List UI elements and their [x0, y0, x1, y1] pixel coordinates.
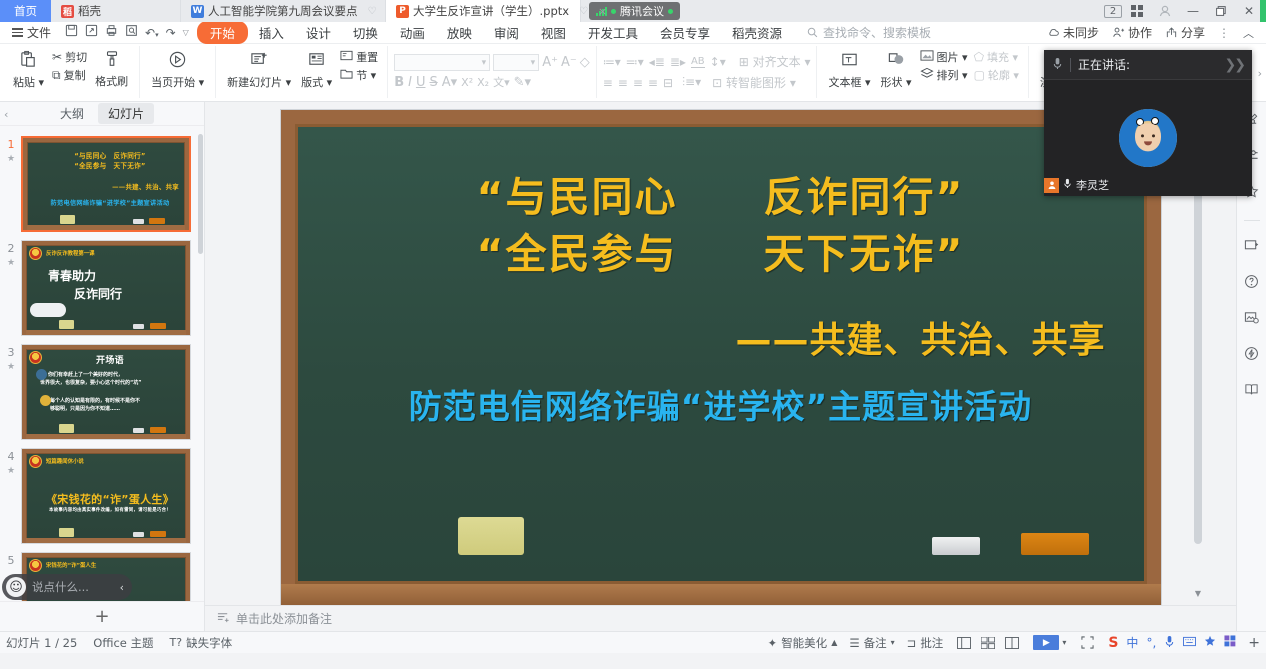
pin-icon[interactable]: ♡ — [579, 6, 588, 17]
search-placeholder: 查找命令、搜索模板 — [823, 24, 931, 41]
ribbon-tab-member-label: 会员专享 — [660, 26, 710, 41]
avatar-eye-right — [1152, 134, 1156, 138]
picture-button[interactable]: 图片 ▾ — [920, 49, 968, 65]
save-icon[interactable] — [65, 24, 78, 41]
picture-icon — [920, 49, 934, 65]
thumbnail-number-2: 2★ — [4, 240, 18, 270]
keyboard-icon[interactable] — [1183, 636, 1196, 650]
video-panel-header: 正在讲话: ❯❯ — [1044, 50, 1252, 80]
tab-writer-doc-label: 人工智能学院第九周会议要点 — [208, 3, 358, 19]
ribbon-group-paragraph: ≔▾ ≕▾ ◂≣ ≣▸ AB ↕▾ ⊞ 对齐文本 ▾ ≡ ≡ ≡ ≡ ⊟ ⫶≡▾… — [597, 46, 818, 98]
fill-button[interactable]: ⬠ 填充 ▾ — [974, 49, 1019, 65]
chevron-up-icon: ▲ — [831, 638, 837, 647]
beautify-icon: ✦ — [768, 636, 778, 650]
reset-icon — [340, 49, 353, 65]
thumb1-line3: ——共建、共治、共享 — [27, 182, 191, 191]
cut-button[interactable]: ✂ 剪切 — [52, 49, 87, 65]
fill-label: 填充 ▾ — [987, 49, 1018, 65]
animation-star-icon: ★ — [4, 360, 18, 374]
tab-writer-doc[interactable]: W 人工智能学院第九周会议要点 ♡ × — [181, 0, 386, 22]
ribbon-tab-design-label: 设计 — [306, 26, 331, 41]
subscript-button[interactable]: X₂ — [477, 76, 489, 89]
align-left-button[interactable]: ≡ — [603, 76, 613, 90]
fill-icon: ⬠ — [974, 50, 984, 64]
docer-icon: 稻 — [61, 5, 74, 18]
ribbon-group-clipboard: 粘贴 ▾ ✂ 剪切 ⧉ 复制 格式刷 — [2, 46, 140, 98]
participant-name-bar: 李灵芝 — [1044, 174, 1115, 196]
underline-button[interactable]: U — [416, 75, 426, 90]
format-painter-icon — [103, 50, 121, 72]
collaborate-icon — [1112, 26, 1125, 39]
collapse-panel-button[interactable]: ‹ — [4, 108, 8, 121]
ribbon-group-startshow: 当页开始 ▾ — [140, 46, 216, 98]
search-icon — [807, 27, 818, 38]
tencent-meeting-label: 腾讯会议 — [620, 3, 664, 19]
close-icon[interactable]: × — [598, 5, 607, 18]
thumb5-header: 宋钱花的“诈”蛋人生 — [46, 561, 96, 569]
input-method-indicator: S 中 °, — [1108, 634, 1236, 651]
font-family-select[interactable]: ▾ — [394, 54, 490, 71]
library-icon[interactable] — [1244, 382, 1259, 401]
scissors-icon: ✂ — [52, 50, 62, 64]
textbox-button[interactable]: 文本框 ▾ — [823, 48, 875, 92]
slide-count-indicator[interactable]: 幻灯片 1 / 25 — [6, 635, 77, 651]
distribute-button[interactable]: ⊟ — [663, 76, 673, 90]
reading-view-icon[interactable] — [1003, 635, 1021, 651]
status-dot-icon — [611, 9, 616, 14]
highlight-button[interactable]: ✎▾ — [514, 75, 531, 90]
theme-label: Office 主题 — [93, 635, 153, 651]
thumb1-line1: “与民同心 反诈同行” — [27, 150, 191, 160]
thumbnail-item-3[interactable]: 3★ 开场语 你们有幸赶上了一个美好的时代， 世界很大，也很复杂，要小心这个时代… — [0, 340, 204, 444]
ribbon-tab-view[interactable]: 视图 — [530, 21, 577, 44]
tab-outline[interactable]: 大纲 — [50, 103, 94, 124]
animation-star-icon: ★ — [4, 152, 18, 166]
ime-mode-label[interactable]: 中 — [1126, 634, 1138, 651]
increase-indent-button[interactable]: ≣▸ — [670, 55, 686, 69]
menu-bar-right: 未同步 协作 分享 ⋮ ︿ — [1047, 24, 1260, 41]
ribbon-tab-animation-label: 动画 — [400, 26, 425, 41]
reset-label: 重置 — [356, 49, 378, 65]
slide-title-line-2: “全民参与 天下无诈” — [298, 226, 1144, 283]
format-painter-label: 格式刷 — [95, 73, 128, 89]
ribbon-group-font: ▾ ▾ A⁺ A⁻ ◇ B I U S A▾ X² X₂ 文▾ ✎▾ — [388, 46, 597, 98]
close-button[interactable]: ✕ — [1236, 0, 1262, 22]
divider — [1070, 58, 1071, 72]
sogou-ime-icon[interactable]: S — [1108, 635, 1118, 651]
speaking-label: 正在讲话: — [1078, 56, 1130, 73]
shape-label: 形状 ▾ — [881, 74, 912, 90]
missing-font-icon: T? — [170, 636, 183, 649]
thumbnail-item-2[interactable]: 2★ 反诈反诈教程第一课 青春助力 反诈同行 — [0, 236, 204, 340]
zoom-in-button[interactable]: + — [1248, 635, 1260, 651]
chalkboard-surface: “与民同心 反诈同行” “全民参与 天下无诈” ——共建、共治、共享 防范电信网… — [295, 124, 1147, 584]
share-label: 分享 — [1181, 24, 1205, 41]
animation-star-icon: ★ — [4, 256, 18, 270]
tab-home[interactable]: 首页 — [0, 0, 51, 22]
pin-icon[interactable]: ♡ — [368, 6, 377, 17]
paste-icon — [19, 50, 38, 73]
sync-status-button[interactable]: 未同步 — [1047, 24, 1099, 41]
skin-icon[interactable] — [1224, 635, 1236, 650]
numbering-button[interactable]: ≕▾ — [626, 55, 644, 69]
add-slide-button[interactable]: + — [0, 601, 204, 631]
copy-button[interactable]: ⧉ 复制 — [52, 67, 87, 83]
fit-slide-icon[interactable] — [1078, 635, 1096, 651]
meeting-video-panel[interactable]: 正在讲话: ❯❯ 李灵芝 — [1044, 50, 1252, 196]
thumbnail-preview-1[interactable]: “与民同心 反诈同行” “全民参与 天下无诈” ——共建、共治、共享 防范电信网… — [21, 136, 191, 232]
tab-docer[interactable]: 稻 稻壳 — [51, 0, 181, 22]
ribbon-tab-transition[interactable]: 切换 — [342, 21, 389, 44]
thumbnail-tabs: ‹ 大纲 幻灯片 — [0, 102, 204, 126]
thumb2-line2: 反诈同行 — [74, 285, 122, 302]
cut-label: 剪切 — [65, 49, 87, 65]
section-button[interactable]: 节 ▾ — [340, 67, 378, 83]
meeting-chat-widget[interactable]: ☺ 说点什么... ‹ — [2, 574, 132, 600]
rail-divider — [1244, 220, 1260, 221]
window-controls: 2 — ✕ — [1104, 0, 1266, 22]
font-size-select[interactable]: ▾ — [493, 54, 539, 71]
avatar-face — [1135, 123, 1161, 151]
slide-count-label: 幻灯片 1 / 25 — [6, 635, 77, 651]
ribbon-tab-view-label: 视图 — [541, 26, 566, 41]
collaborate-label: 协作 — [1128, 24, 1152, 41]
columns-button[interactable]: ⫶≡▾ — [682, 75, 701, 90]
play-slideshow-group: ▶ ▾ — [1033, 635, 1066, 650]
tab-presentation-doc-label: 大学生反诈宣讲（学生）.pptx — [413, 3, 569, 19]
slide-topic-line: 防范电信网络诈骗“进学校”主题宣讲活动 — [298, 385, 1144, 429]
search-input[interactable]: 查找命令、搜索模板 — [807, 24, 931, 41]
strikethrough-button[interactable]: S — [429, 75, 437, 90]
chalk-orange — [1021, 533, 1089, 555]
chalkboard-graphic: 短篇趣闻休小说 《宋钱花的“诈”蛋人生》 本故事内容均由真实事件改编，如有雷同，… — [22, 449, 190, 543]
ribbon-tab-devtools[interactable]: 开发工具 — [577, 21, 649, 44]
avatar-mouth — [1144, 141, 1152, 145]
ribbon-tab-docer[interactable]: 稻壳资源 — [721, 21, 793, 44]
save-as-icon[interactable] — [85, 24, 98, 41]
chevron-down-icon[interactable]: ▾ — [1062, 638, 1066, 647]
chalkboard-graphic: 反诈反诈教程第一课 青春助力 反诈同行 — [22, 241, 190, 335]
ribbon-tab-animation[interactable]: 动画 — [389, 21, 436, 44]
slide-thumbnail-panel: ‹ 大纲 幻灯片 1★ “与民同心 反诈同行” “全民参与 天下无诈” — [0, 102, 205, 631]
thumb4-line1: 《宋钱花的“诈”蛋人生》 — [26, 491, 191, 507]
add-slide-label: + — [94, 606, 109, 627]
mic-icon[interactable] — [1164, 635, 1175, 651]
tab-count-badge-label: 2 — [1110, 6, 1116, 17]
tab-docer-label: 稻壳 — [78, 3, 101, 19]
police-emblem-icon — [29, 455, 42, 468]
tools-icon[interactable] — [1204, 635, 1216, 650]
hamburger-icon — [12, 26, 23, 39]
play-slideshow-button[interactable]: ▶ — [1033, 635, 1059, 650]
close-icon: ✕ — [1244, 4, 1254, 18]
ribbon-tab-transition-label: 切换 — [353, 26, 378, 41]
view-buttons — [955, 635, 1021, 651]
new-slide-label: 新建幻灯片 ▾ — [227, 74, 291, 90]
notes-toggle-button[interactable]: ☰ 备注 ▾ — [849, 635, 894, 651]
avatar — [1119, 109, 1177, 167]
bullet-icon-1 — [36, 369, 47, 380]
thumbnail-scrollbar[interactable] — [198, 134, 203, 254]
format-row: B I U S A▾ X² X₂ 文▾ ✎▾ — [394, 74, 531, 90]
align-center-button[interactable]: ≡ — [618, 76, 628, 90]
thumb3-title: 开场语 — [26, 353, 191, 366]
layout-label: 版式 ▾ — [301, 74, 332, 90]
outline-button[interactable]: ▢ 轮廓 ▾ — [974, 67, 1019, 83]
thumbnail-preview-2[interactable]: 反诈反诈教程第一课 青春助力 反诈同行 — [21, 240, 191, 336]
align-right-button[interactable]: ≡ — [633, 76, 643, 90]
smiley-icon[interactable]: ☺ — [6, 577, 26, 597]
ime-punctuation-icon[interactable]: °, — [1146, 636, 1156, 650]
layout-button[interactable]: 版式 ▾ — [296, 48, 337, 92]
thumb2-line1: 青春助力 — [48, 267, 96, 284]
superscript-button[interactable]: X² — [461, 76, 473, 89]
bold-button[interactable]: B — [394, 75, 404, 90]
font-row: ▾ ▾ A⁺ A⁻ ◇ — [394, 54, 590, 71]
share-icon — [1165, 26, 1178, 39]
start-from-current-button[interactable]: 当页开始 ▾ — [146, 48, 209, 92]
notes-pane[interactable]: 单击此处添加备注 — [205, 605, 1236, 631]
outline-label: 轮廓 ▾ — [988, 67, 1019, 83]
thumbnail-item-4[interactable]: 4★ 短篇趣闻休小说 《宋钱花的“诈”蛋人生》 本故事内容均由真实事件改编，如有… — [0, 444, 204, 548]
format-painter-button[interactable]: 格式刷 — [90, 48, 133, 91]
drawing-col-2: ⬠ 填充 ▾ ▢ 轮廓 ▾ — [971, 48, 1022, 84]
picture-label: 图片 ▾ — [937, 49, 968, 65]
status-dot-icon-2 — [668, 9, 673, 14]
person-icon — [1044, 178, 1059, 193]
paragraph-row-1: ≔▾ ≕▾ ◂≣ ≣▸ AB ↕▾ ⊞ 对齐文本 ▾ — [603, 53, 811, 70]
beautify-label: 智能美化 — [781, 635, 827, 651]
ribbon-tab-start[interactable]: 开始 — [197, 21, 248, 44]
normal-view-icon[interactable] — [955, 635, 973, 651]
notes-icon — [217, 611, 230, 627]
ribbon-tab-insert[interactable]: 插入 — [248, 21, 295, 44]
chat-placeholder: 说点什么... — [32, 580, 89, 594]
notes-toggle-label: 备注 — [864, 635, 887, 651]
start-from-current-label: 当页开始 ▾ — [151, 74, 204, 90]
sync-status-label: 未同步 — [1063, 24, 1099, 41]
ribbon-tab-start-label: 开始 — [210, 26, 235, 41]
ribbon-tab-design[interactable]: 设计 — [295, 21, 342, 44]
thumbnail-preview-4[interactable]: 短篇趣闻休小说 《宋钱花的“诈”蛋人生》 本故事内容均由真实事件改编，如有雷同，… — [21, 448, 191, 544]
thumbnail-preview-3[interactable]: 开场语 你们有幸赶上了一个美好的时代， 世界很大，也很复杂，要小心这个时代的“坑… — [21, 344, 191, 440]
print-icon[interactable] — [105, 24, 118, 41]
thumbnail-number-4: 4★ — [4, 448, 18, 478]
comment-label: 批注 — [920, 635, 943, 651]
textbox-label: 文本框 ▾ — [828, 74, 870, 90]
screen-share-indicator — [1260, 0, 1266, 22]
redo-icon[interactable]: ↷ — [166, 26, 176, 40]
ribbon-tab-insert-label: 插入 — [259, 26, 284, 41]
thumb1-line4: 防范电信网络诈骗“进学校”主题宣讲活动 — [27, 198, 191, 207]
account-icon[interactable] — [1152, 0, 1178, 22]
thumbnail-item-1[interactable]: 1★ “与民同心 反诈同行” “全民参与 天下无诈” ——共建、共治、共享 防范… — [0, 132, 204, 236]
notes-icon: ☰ — [849, 636, 859, 650]
comment-icon: ⊐ — [907, 636, 917, 650]
cloud-graphic — [30, 303, 66, 317]
thumb3-line1: 你们有幸赶上了一个美好的时代， — [48, 371, 123, 378]
tab-presentation-doc[interactable]: P 大学生反诈宣讲（学生）.pptx ♡ × — [386, 0, 581, 22]
thumbnail-list[interactable]: 1★ “与民同心 反诈同行” “全民参与 天下无诈” ——共建、共治、共享 防范… — [0, 126, 204, 601]
thumbnail-number-3: 3★ — [4, 344, 18, 374]
shrink-font-button[interactable]: A⁻ — [561, 55, 577, 70]
chalk-yellow — [458, 517, 524, 555]
mic-icon[interactable] — [1052, 57, 1063, 73]
comment-button[interactable]: ⊐ 批注 — [907, 635, 944, 651]
decrease-indent-button[interactable]: ◂≣ — [649, 55, 665, 69]
chevrons-icon[interactable]: ❯❯ — [1225, 57, 1244, 73]
drawing-col-1: 图片 ▾ 排列 ▾ — [917, 48, 971, 84]
convert-smartart-button[interactable]: ⊡ 转智能图形 ▾ — [712, 74, 796, 91]
chevron-up-icon[interactable]: ︿ — [1243, 25, 1254, 41]
arrange-label: 排列 ▾ — [937, 67, 968, 83]
help-icon[interactable] — [1244, 274, 1259, 293]
maximize-button[interactable] — [1208, 0, 1234, 22]
missing-font-label: 缺失字体 — [186, 635, 232, 651]
wps-presentation-window: 首页 稻 稻壳 W 人工智能学院第九周会议要点 ♡ × P 大学生反诈宣讲（学生… — [0, 0, 1266, 669]
reset-button[interactable]: 重置 — [340, 49, 378, 65]
share-button[interactable]: 分享 — [1165, 24, 1205, 41]
bullet-icon-2 — [40, 395, 51, 406]
slide-title-line-1: “与民同心 反诈同行” — [298, 169, 1144, 226]
avatar-eye-left — [1141, 134, 1145, 138]
slide-subtitle-line: ——共建、共治、共享 — [735, 317, 1105, 365]
section-icon — [340, 67, 353, 83]
smart-beautify-button[interactable]: ✦ 智能美化 ▲ — [768, 635, 838, 651]
slides-secondary: 重置 节 ▾ — [337, 48, 381, 84]
ribbon-scroll-right[interactable]: › — [1258, 46, 1266, 101]
clipboard-secondary: ✂ 剪切 ⧉ 复制 — [49, 48, 90, 84]
tab-slides[interactable]: 幻灯片 — [98, 103, 154, 124]
thumb4-line2: 本故事内容均由真实事件改编，如有雷同，请可能是巧合！ — [26, 507, 191, 513]
status-bar: 幻灯片 1 / 25 Office 主题 T? 缺失字体 ✦ 智能美化 ▲ ☰ … — [0, 631, 1266, 653]
arrange-button[interactable]: 排列 ▾ — [920, 67, 968, 83]
chalk-white — [932, 537, 980, 555]
ribbon-group-drawing: 文本框 ▾ 形状 ▾ 图片 ▾ 排列 — [817, 46, 1028, 98]
shape-icon — [887, 50, 906, 73]
scroll-down-arrow[interactable]: ▼ — [1192, 589, 1204, 601]
tab-count-badge-icon[interactable]: 2 — [1104, 5, 1122, 18]
thumb4-header: 短篇趣闻休小说 — [46, 457, 84, 465]
quick-access-toolbar: ↶▾ ↷ ▽ — [57, 24, 197, 41]
more-icon[interactable]: ⋮ — [1218, 26, 1230, 40]
flash-icon[interactable] — [1244, 346, 1259, 365]
paragraph-row-2: ≡ ≡ ≡ ≡ ⊟ ⫶≡▾ ⊡ 转智能图形 ▾ — [603, 74, 796, 91]
video-panel-body[interactable]: 李灵芝 — [1044, 80, 1252, 196]
minimize-button[interactable]: — — [1180, 0, 1206, 22]
status-bar-right: ✦ 智能美化 ▲ ☰ 备注 ▾ ⊐ 批注 — [768, 634, 1260, 651]
thumb3-line2: 世界很大，也很复杂，要小心这个时代的“坑” — [40, 379, 142, 386]
thumbnail-number-1: 1★ — [4, 136, 18, 166]
ribbon-group-slides: 新建幻灯片 ▾ 版式 ▾ 重置 节 — [216, 46, 388, 98]
ribbon-tab-member[interactable]: 会员专享 — [649, 21, 721, 44]
shape-button[interactable]: 形状 ▾ — [876, 48, 917, 92]
file-menu-label: 文件 — [27, 24, 51, 41]
thumbnail-number-5: 5 — [4, 552, 18, 568]
collaborate-button[interactable]: 协作 — [1112, 24, 1152, 41]
clear-format-button[interactable]: ◇ — [580, 55, 590, 70]
arrange-icon — [920, 67, 934, 83]
italic-button[interactable]: I — [408, 75, 412, 90]
copy-icon: ⧉ — [52, 68, 61, 83]
chevron-down-icon: ▾ — [891, 638, 895, 647]
print-preview-icon[interactable] — [125, 24, 138, 41]
ribbon-tab-review[interactable]: 审阅 — [483, 21, 530, 44]
chevron-left-icon[interactable]: ‹ — [120, 581, 128, 594]
thumb3-line3: 每个人的认知是有限的，有时候不是你不 — [50, 397, 140, 404]
chalkboard-graphic: “与民同心 反诈同行” “全民参与 天下无诈” ——共建、共治、共享 防范电信网… — [23, 138, 189, 230]
play-circle-icon — [168, 50, 187, 73]
outline-icon: ▢ — [974, 68, 985, 82]
ribbon-tab-slideshow[interactable]: 放映 — [436, 21, 483, 44]
paste-button[interactable]: 粘贴 ▾ — [8, 48, 49, 92]
align-text-button[interactable]: ⊞ 对齐文本 ▾ — [739, 53, 811, 70]
customize-icon[interactable]: ▽ — [183, 28, 189, 37]
notes-placeholder: 单击此处添加备注 — [236, 610, 332, 627]
phonetic-guide-button[interactable]: 文▾ — [493, 74, 510, 90]
wps-writer-icon: W — [191, 5, 204, 18]
thumb1-line2: “全民参与 天下无诈” — [27, 160, 191, 170]
chalkboard-graphic: 开场语 你们有幸赶上了一个美好的时代， 世界很大，也很复杂，要小心这个时代的“坑… — [22, 345, 190, 439]
tab-home-label: 首页 — [14, 3, 37, 19]
text-effect-button[interactable]: A▾ — [442, 75, 457, 90]
participant-name-label: 李灵芝 — [1076, 177, 1109, 193]
police-emblem-icon — [29, 559, 42, 572]
ribbon-tabs: 开始 插入 设计 切换 动画 放映 审阅 视图 开发工具 会员专享 稻壳资源 — [197, 21, 793, 44]
animation-star-icon: ★ — [4, 464, 18, 478]
menu-bar: 文件 ↶▾ ↷ ▽ 开始 插入 设计 切换 动画 放映 — [0, 22, 1266, 44]
theme-indicator[interactable]: Office 主题 — [93, 635, 153, 651]
thumb2-header: 反诈反诈教程第一课 — [46, 249, 95, 257]
ribbon-tab-docer-label: 稻壳资源 — [732, 26, 782, 41]
ribbon-tab-slideshow-label: 放映 — [447, 26, 472, 41]
bullets-button[interactable]: ≔▾ — [603, 55, 621, 69]
grid-icon[interactable] — [1124, 0, 1150, 22]
ribbon-tab-review-label: 审阅 — [494, 26, 519, 41]
ribbon-tab-devtools-label: 开发工具 — [588, 26, 638, 41]
police-emblem-icon — [29, 247, 42, 260]
undo-icon[interactable]: ↶▾ — [145, 26, 159, 40]
mic-icon — [1063, 178, 1072, 192]
line-spacing-button[interactable]: ↕▾ — [710, 55, 726, 69]
new-slide-icon — [250, 50, 269, 73]
textbox-icon — [840, 50, 859, 73]
minimize-icon: — — [1187, 4, 1199, 18]
wps-presentation-icon: P — [396, 5, 409, 18]
image-edit-icon[interactable] — [1244, 310, 1259, 329]
slide-sorter-icon[interactable] — [979, 635, 997, 651]
copy-label: 复制 — [64, 67, 86, 83]
thumb3-line4: 够聪明，只是因为你不知道…… — [50, 405, 120, 412]
cloud-sync-icon — [1047, 26, 1060, 39]
section-label: 节 ▾ — [356, 67, 376, 83]
missing-font-indicator[interactable]: T? 缺失字体 — [170, 635, 233, 651]
tab-bar: 首页 稻 稻壳 W 人工智能学院第九周会议要点 ♡ × P 大学生反诈宣讲（学生… — [0, 0, 1266, 22]
grow-font-button[interactable]: A⁺ — [542, 55, 558, 70]
chat-input[interactable]: 说点什么... — [32, 579, 114, 595]
slide-canvas[interactable]: “与民同心 反诈同行” “全民参与 天下无诈” ——共建、共治、共享 防范电信网… — [281, 110, 1161, 608]
new-slide-button[interactable]: 新建幻灯片 ▾ — [222, 48, 296, 92]
paste-label: 粘贴 ▾ — [13, 74, 44, 90]
file-menu[interactable]: 文件 — [6, 24, 57, 41]
justify-button[interactable]: ≡ — [648, 76, 658, 90]
screen-share-icon[interactable] — [1244, 238, 1259, 257]
text-direction-button[interactable]: AB — [691, 56, 705, 68]
layout-icon — [307, 50, 326, 73]
